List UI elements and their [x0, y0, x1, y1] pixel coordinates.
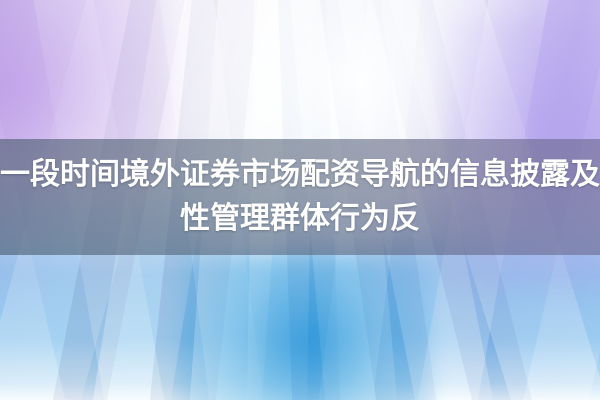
caption-line-2: 性管理群体行为反 [180, 197, 420, 241]
article-cover-banner: 近一段时间境外证券市场配资导航的信息披露及时 性管理群体行为反 [0, 0, 600, 400]
caption-line-1: 近一段时间境外证券市场配资导航的信息披露及时 [0, 153, 600, 197]
caption-overlay-band: 近一段时间境外证券市场配资导航的信息披露及时 性管理群体行为反 [0, 139, 600, 255]
background-glow-blue-bottom [180, 256, 432, 400]
